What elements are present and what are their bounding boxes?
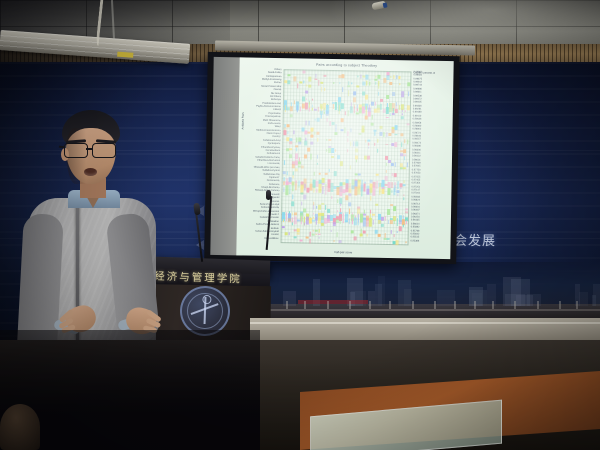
mural-post <box>576 301 578 309</box>
heatmap-marker <box>286 171 288 175</box>
heatmap-marker <box>323 112 325 114</box>
heatmap-marker <box>343 213 345 223</box>
heatmap-marker <box>327 219 330 224</box>
heatmap-marker <box>298 141 301 145</box>
heatmap-marker <box>322 187 324 194</box>
heatmap-marker <box>347 138 349 142</box>
heatmap-marker <box>329 121 331 126</box>
heatmap-marker <box>289 155 291 158</box>
heatmap-marker <box>296 137 298 142</box>
heatmap-marker <box>293 77 296 81</box>
heatmap-marker <box>377 139 379 143</box>
heatmap-marker <box>295 154 298 159</box>
heatmap-marker <box>391 190 393 193</box>
heatmap-marker <box>407 82 410 86</box>
heatmap-marker <box>397 181 399 189</box>
heatmap-marker <box>305 141 307 146</box>
heatmap-marker <box>365 139 367 142</box>
mural-building <box>375 284 382 306</box>
heatmap-marker <box>403 149 406 153</box>
heatmap-marker <box>388 188 390 195</box>
housing-label-tag <box>117 52 133 58</box>
heatmap-marker <box>348 85 350 87</box>
heatmap-marker <box>304 155 307 158</box>
heatmap-marker <box>328 169 330 171</box>
heatmap-marker <box>387 95 389 99</box>
mural-post <box>474 301 476 309</box>
heatmap-marker <box>342 87 344 92</box>
heatmap-marker <box>368 111 371 116</box>
heatmap-marker <box>368 143 369 146</box>
heatmap-plot-area <box>281 69 412 245</box>
heatmap-marker <box>399 226 401 231</box>
heatmap-marker <box>341 75 344 78</box>
heatmap-marker <box>297 229 299 232</box>
heatmap-marker <box>326 148 328 151</box>
heatmap-marker <box>407 139 409 144</box>
heatmap-marker <box>294 236 296 238</box>
heatmap-marker <box>315 73 317 78</box>
heatmap-marker <box>314 108 317 110</box>
heatmap-marker <box>307 148 310 152</box>
heatmap-marker <box>351 230 354 233</box>
heatmap-marker <box>315 233 317 235</box>
glasses-temple <box>59 146 65 148</box>
heatmap-marker <box>393 234 395 237</box>
heatmap-marker <box>305 91 307 94</box>
heatmap-marker <box>305 102 308 109</box>
heatmap-marker <box>303 208 306 213</box>
heatmap-marker <box>403 180 404 183</box>
heatmap-marker <box>301 165 303 168</box>
heatmap-marker <box>298 185 300 189</box>
heatmap-marker <box>295 183 297 190</box>
heatmap-marker <box>355 149 358 153</box>
heatmap-marker <box>357 218 359 226</box>
heatmap-marker <box>307 188 309 194</box>
heatmap-marker <box>374 142 375 146</box>
glasses-lens-left <box>64 143 88 158</box>
heatmap-marker <box>289 185 291 194</box>
heatmap-marker <box>353 107 355 114</box>
heatmap-marker <box>389 82 392 85</box>
heatmap-marker <box>288 218 290 222</box>
heatmap-marker <box>315 78 317 80</box>
heatmap-marker <box>362 107 364 114</box>
heatmap-marker <box>333 104 334 109</box>
heatmap-marker <box>344 128 346 133</box>
heatmap-marker <box>321 223 323 226</box>
heatmap-marker <box>302 97 304 102</box>
heatmap-marker <box>396 76 398 79</box>
heatmap-marker <box>290 115 293 117</box>
slide-x-axis-label: half-pair score <box>236 248 450 256</box>
heatmap-marker <box>331 196 333 200</box>
heatmap-marker <box>306 98 308 100</box>
heatmap-marker <box>391 173 392 176</box>
heatmap-marker <box>377 108 379 113</box>
wall-base-highlight <box>250 322 600 324</box>
heatmap-marker <box>380 126 383 129</box>
heatmap-marker <box>350 165 352 169</box>
heatmap-marker <box>396 231 398 233</box>
heatmap-marker <box>405 242 406 244</box>
heatmap-marker <box>306 237 309 239</box>
heatmap-marker <box>330 230 332 232</box>
heatmap-marker <box>399 76 401 79</box>
heatmap-marker <box>337 155 340 159</box>
heatmap-marker <box>390 76 391 78</box>
heatmap-marker <box>384 78 386 84</box>
heatmap-marker <box>313 205 315 210</box>
heatmap-marker <box>349 209 351 214</box>
heatmap-marker <box>407 162 409 167</box>
heatmap-marker <box>283 171 285 174</box>
heatmap-marker <box>310 154 312 160</box>
heatmap-marker <box>304 223 305 226</box>
heatmap-marker <box>391 182 392 187</box>
heatmap-marker <box>366 81 368 86</box>
heatmap-marker <box>285 185 288 195</box>
heatmap-marker <box>295 168 297 172</box>
heatmap-marker <box>294 212 297 215</box>
heatmap-marker <box>367 188 370 194</box>
heatmap-marker <box>400 188 402 190</box>
heatmap-marker <box>331 156 334 158</box>
heatmap-marker <box>385 155 387 160</box>
heatmap-marker <box>369 82 371 86</box>
heatmap-marker <box>318 236 320 239</box>
mural-post <box>369 301 371 309</box>
heatmap-marker <box>288 232 290 235</box>
heatmap-marker <box>375 79 377 81</box>
heatmap-marker <box>316 189 318 193</box>
heatmap-marker <box>292 175 293 178</box>
heatmap-marker <box>392 113 395 115</box>
heatmap-marker <box>365 115 368 119</box>
heatmap-marker <box>397 194 399 197</box>
heatmap-marker <box>299 81 302 83</box>
presenter-mouth <box>84 168 97 176</box>
heatmap-marker <box>368 140 370 142</box>
heatmap-marker <box>318 205 320 210</box>
heatmap-marker <box>334 132 337 135</box>
heatmap-marker <box>403 167 406 169</box>
heatmap-marker <box>366 74 368 79</box>
heatmap-marker <box>314 118 315 121</box>
heatmap-marker <box>343 189 346 193</box>
heatmap-marker <box>324 88 326 91</box>
heatmap-marker <box>297 83 299 88</box>
heatmap-marker <box>386 107 389 114</box>
heatmap-marker <box>345 111 346 115</box>
heatmap-marker <box>324 75 326 77</box>
heatmap-marker <box>317 155 319 159</box>
heatmap-marker <box>380 104 382 110</box>
heatmap-marker <box>297 219 300 221</box>
heatmap-marker <box>356 113 358 115</box>
heatmap-marker <box>301 202 303 206</box>
heatmap-marker <box>376 174 378 176</box>
heatmap-marker <box>386 163 388 166</box>
heatmap-marker <box>375 204 378 206</box>
heatmap-marker <box>297 233 299 235</box>
heatmap-marker <box>341 104 344 110</box>
heatmap-marker <box>287 125 290 128</box>
heatmap-marker <box>349 218 351 224</box>
mural-post <box>349 301 351 309</box>
heatmap-marker <box>284 130 286 135</box>
lecture-hall-photo: 教育 业， 发展 与社会发展 Pairs according to subjec… <box>0 0 600 450</box>
heatmap-marker <box>325 173 327 175</box>
heatmap-marker <box>388 182 391 187</box>
heatmap-marker <box>390 220 393 224</box>
heatmap-marker <box>331 148 334 153</box>
glasses-lens-right <box>92 143 116 158</box>
mural-post <box>454 301 456 309</box>
heatmap-marker <box>350 128 352 132</box>
heatmap-marker <box>381 224 384 227</box>
heatmap-marker <box>319 188 322 192</box>
heatmap-marker <box>354 217 357 226</box>
heatmap-marker <box>394 173 396 177</box>
heatmap-marker <box>341 118 343 122</box>
heatmap-marker <box>374 108 376 112</box>
heatmap-marker <box>405 208 408 210</box>
glasses-bridge <box>86 148 92 150</box>
heatmap-marker <box>310 183 313 190</box>
mural-building <box>593 284 600 306</box>
heatmap-marker <box>385 176 388 181</box>
heatmap-marker <box>392 129 395 133</box>
heatmap-marker <box>397 218 399 227</box>
heatmap-marker <box>401 91 404 96</box>
heatmap-marker <box>334 171 337 176</box>
heatmap-marker <box>357 75 359 78</box>
mural-banner <box>298 300 368 304</box>
heatmap-marker <box>394 220 395 224</box>
heatmap-marker <box>293 131 295 135</box>
slide-title: Pairs according to subject Theodory <box>240 61 454 69</box>
heatmap-marker <box>400 163 403 167</box>
heatmap-marker <box>377 149 379 153</box>
heatmap-marker <box>371 122 373 125</box>
heatmap-marker <box>340 161 343 166</box>
heatmap-marker <box>312 233 315 235</box>
heatmap-marker <box>308 132 311 134</box>
heatmap-marker <box>399 105 401 111</box>
heatmap-marker <box>290 106 292 111</box>
mural-post <box>559 301 561 309</box>
heatmap-marker <box>388 198 390 200</box>
heatmap-marker <box>386 132 388 137</box>
heatmap-marker <box>372 214 375 216</box>
heatmap-marker <box>294 100 296 105</box>
heatmap-marker <box>396 190 399 193</box>
heatmap-marker <box>364 210 366 213</box>
heatmap-marker <box>389 113 391 116</box>
heatmap-marker <box>364 156 366 160</box>
heatmap-marker <box>326 110 328 115</box>
heatmap-marker <box>309 107 311 111</box>
heatmap-value-label: 0.95386 <box>411 239 420 242</box>
slide-y-axis-label: Antibiotic Pairs <box>241 112 244 129</box>
heatmap-marker <box>313 213 314 215</box>
heatmap-marker <box>313 172 315 175</box>
heatmap-marker <box>287 131 289 134</box>
heatmap-marker <box>288 74 290 77</box>
heatmap-marker <box>348 90 350 95</box>
heatmap-marker <box>359 133 362 135</box>
heatmap-marker <box>316 206 318 210</box>
heatmap-marker <box>396 240 399 245</box>
glasses-icon <box>64 143 120 156</box>
heatmap-marker <box>284 160 286 165</box>
heatmap-marker <box>335 149 337 152</box>
heatmap-marker <box>319 172 321 174</box>
heatmap-marker <box>304 195 306 200</box>
heatmap-marker <box>290 149 292 151</box>
heatmap-marker <box>371 115 373 120</box>
heatmap-marker <box>395 162 397 167</box>
campus-mural <box>250 262 600 320</box>
heatmap-marker <box>386 117 388 119</box>
heatmap-marker <box>308 77 311 82</box>
projection-screen: Pairs according to subject Theodory Anti… <box>204 52 460 264</box>
mural-building <box>579 292 588 306</box>
heatmap-marker <box>385 216 387 221</box>
mural-post <box>304 301 306 309</box>
heatmap-marker <box>326 118 328 122</box>
mural-railing <box>250 309 600 311</box>
heatmap-marker <box>403 184 405 186</box>
heatmap-marker <box>403 197 405 200</box>
heatmap-marker <box>315 230 318 232</box>
heatmap-marker <box>390 230 392 234</box>
heatmap-marker <box>378 92 380 96</box>
heatmap-marker <box>296 147 298 151</box>
heatmap-marker <box>378 234 381 236</box>
heatmap-marker <box>333 222 335 226</box>
heatmap-marker <box>404 110 406 113</box>
heatmap-marker <box>370 195 371 200</box>
heatmap-marker <box>348 202 351 206</box>
heatmap-marker <box>403 194 404 196</box>
heatmap-marker <box>368 146 370 148</box>
heatmap-marker <box>362 81 365 85</box>
heatmap-marker <box>291 201 294 206</box>
heatmap-marker <box>408 92 410 97</box>
heatmap-marker <box>348 193 351 196</box>
heatmap-marker <box>341 129 343 131</box>
heatmap-marker <box>405 211 407 213</box>
heatmap-marker <box>309 239 311 244</box>
heatmap-marker <box>313 216 315 218</box>
microphone-head-secondary <box>266 190 271 200</box>
heatmap-marker <box>316 131 319 134</box>
heatmap-marker <box>339 82 341 84</box>
heatmap-marker <box>355 159 357 163</box>
heatmap-marker <box>318 229 320 233</box>
heatmap-marker <box>353 97 355 102</box>
heatmap-marker <box>299 107 301 112</box>
heatmap-value-labels: 0.999820.999310.998750.998120.997440.996… <box>240 57 454 61</box>
heatmap-marker <box>380 132 382 136</box>
heatmap-marker <box>407 105 410 111</box>
heatmap-marker <box>326 139 328 142</box>
heatmap-marker <box>285 212 287 221</box>
heatmap-marker <box>375 75 376 78</box>
heatmap-marker <box>381 216 383 220</box>
heatmap-marker <box>325 186 327 195</box>
heatmap-marker <box>395 126 397 130</box>
heatmap-marker <box>314 132 315 135</box>
heatmap-marker <box>312 108 313 111</box>
heatmap-marker <box>367 156 369 159</box>
heatmap-marker <box>298 162 300 165</box>
heatmap-marker <box>294 229 296 231</box>
mural-post <box>412 301 414 309</box>
heatmap-marker <box>387 238 390 240</box>
heatmap-marker <box>404 140 406 143</box>
heatmap-marker <box>356 86 359 88</box>
heatmap-marker <box>348 111 349 116</box>
heatmap-marker <box>287 137 289 141</box>
heatmap-marker <box>373 219 375 224</box>
heatmap-marker <box>300 240 303 242</box>
heatmap-marker <box>404 156 406 160</box>
heatmap-marker <box>301 192 303 195</box>
heatmap-marker <box>365 94 368 99</box>
mural-post <box>492 301 494 309</box>
heatmap-marker <box>371 102 373 106</box>
heatmap-marker <box>292 182 294 192</box>
heatmap-marker <box>303 70 306 73</box>
heatmap-marker <box>378 75 381 78</box>
heatmap-marker <box>385 144 388 146</box>
heatmap-marker <box>292 164 294 169</box>
heatmap-marker <box>312 98 314 100</box>
heatmap-marker <box>389 133 392 136</box>
heatmap-marker <box>312 219 314 222</box>
heatmap-marker <box>318 80 320 85</box>
mural-post <box>514 301 516 309</box>
heatmap-marker <box>317 118 319 122</box>
heatmap-marker <box>339 240 342 243</box>
microphone-head <box>193 203 200 216</box>
heatmap-row-labels: OthersSaudi ArabiaCiclosporinumMethyl-En… <box>240 57 454 61</box>
heatmap-marker <box>303 81 304 84</box>
heatmap-marker <box>285 232 288 235</box>
heatmap-marker <box>350 142 352 146</box>
heatmap-marker <box>380 99 383 102</box>
heatmap-marker <box>388 209 390 215</box>
heatmap-marker <box>325 205 327 210</box>
heatmap-marker <box>321 87 322 92</box>
heatmap-marker <box>347 131 349 136</box>
heatmap-marker <box>366 234 368 237</box>
heatmap-marker <box>361 186 363 196</box>
mural-post <box>389 301 391 309</box>
mural-post <box>286 301 288 309</box>
heatmap-marker <box>309 232 311 237</box>
heatmap-marker <box>310 135 313 138</box>
heatmap-marker <box>355 142 358 146</box>
heatmap-marker <box>393 75 395 78</box>
heatmap-marker <box>308 120 310 125</box>
heatmap-marker <box>382 189 385 194</box>
heatmap-marker <box>322 183 325 185</box>
